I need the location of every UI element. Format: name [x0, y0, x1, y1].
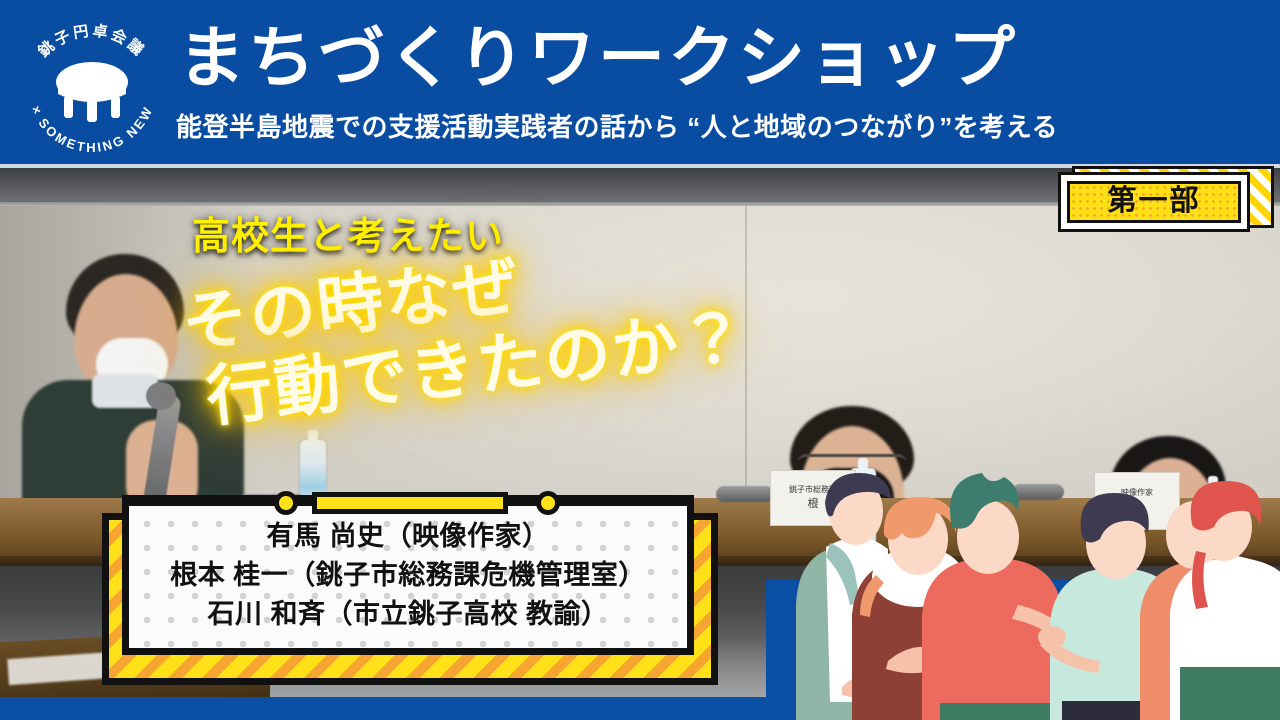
round-table-icon [56, 62, 128, 122]
header-bar: 銚子円卓会議 × SOMETHING NEW まちづくりワークショップ 能登半島… [0, 0, 1280, 168]
hanger-dot-right-icon [536, 491, 560, 515]
kicker-text: 高校生と考えたい [192, 205, 504, 260]
hanger-plate [312, 492, 508, 514]
card-hanger-decoration [122, 489, 694, 515]
speakers-card: 有馬 尚史（映像作家） 根本 桂一（銚子市総務課危機管理室） 石川 和斉（市立銚… [122, 495, 694, 655]
photo-microphone-head [146, 382, 176, 410]
hanger-dot-left-icon [274, 491, 298, 515]
slide-root: 銚子市総務課 根 映像作家 有 [0, 0, 1280, 720]
speaker-name: 石川 和斉（市立銚子高校 教諭） [207, 595, 608, 634]
choshi-entaku-kaigi-logo: 銚子円卓会議 × SOMETHING NEW [12, 10, 172, 160]
page-subtitle: 能登半島地震での支援活動実践者の話から “人と地域のつながり”を考える [176, 110, 1246, 144]
part-badge-frame: 第一部 [1058, 172, 1250, 232]
page-title: まちづくりワークショップ [178, 16, 1238, 102]
speaker-name: 根本 桂一（銚子市総務課危機管理室） [170, 556, 646, 595]
svg-text:銚子円卓会議: 銚子円卓会議 [34, 21, 149, 61]
part-badge-inner: 第一部 [1067, 181, 1241, 223]
speaker-name: 有馬 尚史（映像作家） [266, 517, 549, 556]
part-badge-label: 第一部 [1107, 187, 1200, 216]
part-badge: 第一部 [1058, 172, 1268, 234]
group-of-people-illustration [756, 455, 1280, 720]
